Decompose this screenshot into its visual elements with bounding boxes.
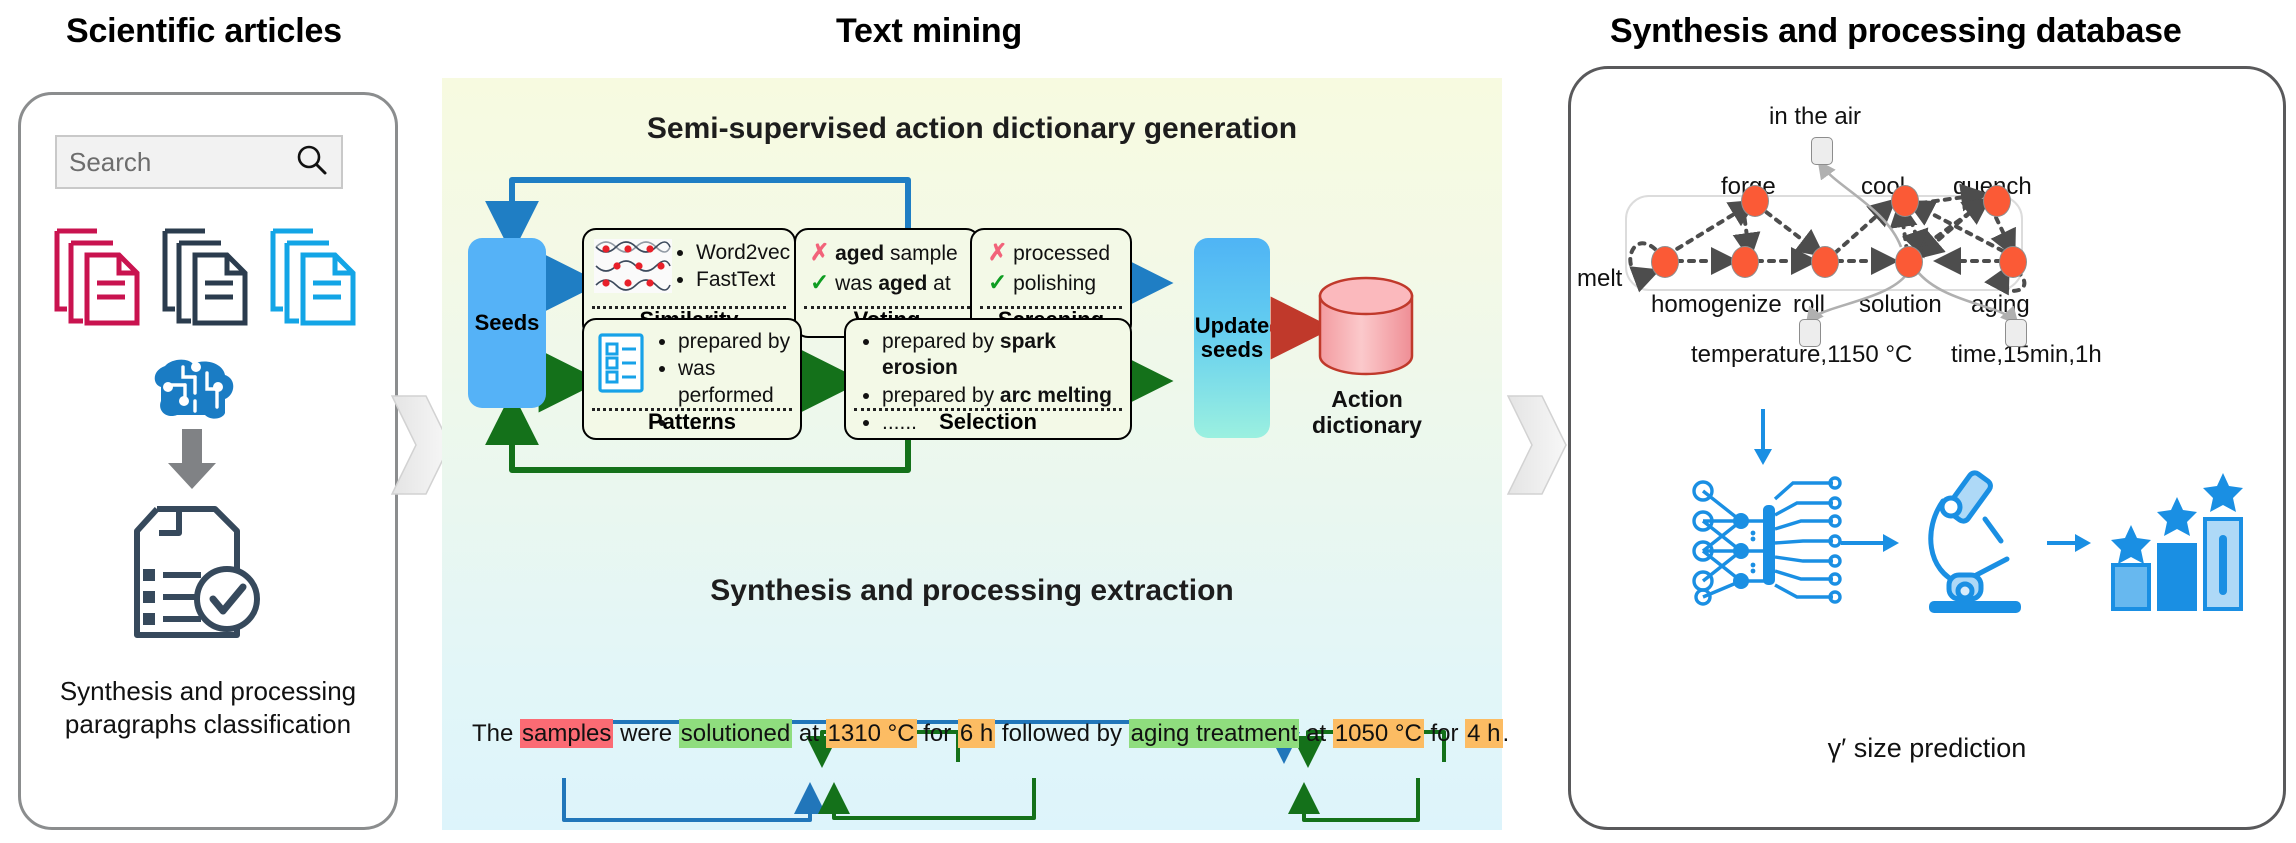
right-panel-title: Synthesis and processing database (1610, 12, 2182, 51)
sentence-token-4: at (792, 720, 825, 747)
down-arrow-icon (164, 429, 220, 496)
selection-item-0: prepared by (882, 330, 1000, 353)
sentence-token-12: for (1424, 720, 1465, 747)
selection-caption: Selection (852, 409, 1124, 435)
search-icon[interactable] (295, 143, 329, 182)
extracted-sentence: The samples were solutioned at 1310 °C f… (472, 720, 1472, 748)
action-dictionary-label: Action dictionary (1286, 386, 1448, 439)
graph-node-homogenize[interactable] (1731, 246, 1759, 278)
mid-panel-title: Text mining (836, 12, 1022, 51)
check-icon: ✓ (988, 269, 1007, 295)
patterns-caption: Patterns (590, 409, 794, 435)
sentence-token-11: 1050 °C (1333, 719, 1424, 748)
x-icon: ✗ (810, 239, 829, 265)
sentence-token-0: The (472, 720, 520, 747)
seeds-block[interactable]: Seeds (468, 238, 546, 408)
graph-edges (1571, 69, 2283, 499)
voting-item-1-bold: aged (878, 272, 927, 295)
screening-item-0: processed (1013, 242, 1110, 265)
update-seeds-label: Update seeds (1195, 314, 1270, 362)
neural-network-icon (1683, 469, 1843, 624)
graph-node-quench[interactable] (1983, 185, 2011, 217)
voting-item-0-bold: aged (835, 242, 884, 265)
search-input[interactable]: Search (55, 135, 343, 189)
documents-stack-dark-icon (159, 225, 255, 334)
similarity-item-0: Word2vec (696, 240, 790, 266)
graph-node-aging[interactable] (1999, 246, 2027, 278)
graph-node-cool[interactable] (1891, 185, 1919, 217)
update-seeds-block[interactable]: Update seeds (1194, 238, 1270, 438)
attr-node-time[interactable] (2005, 319, 2027, 347)
graph-node-roll[interactable] (1811, 246, 1839, 278)
pipeline-arrow-2-icon (2045, 531, 2095, 555)
left-panel-title: Scientific articles (66, 12, 342, 51)
sentence-token-8: followed by (995, 720, 1128, 747)
graph-node-solution[interactable] (1895, 246, 1923, 278)
bar-chart-stars-icon (2105, 469, 2251, 620)
flow-arrows (442, 78, 1502, 830)
patterns-item-1: was performed (678, 356, 800, 409)
voting-items: ✗ aged sample ✓ was aged at (810, 238, 958, 298)
sentence-token-2: were (613, 720, 678, 747)
seeds-label: Seeds (475, 311, 540, 335)
cylinder-database-icon (1314, 274, 1418, 389)
documents-stack-red-icon (51, 225, 147, 334)
action-dictionary-line2: dictionary (1286, 412, 1448, 438)
x-icon: ✗ (988, 239, 1007, 265)
pipeline-arrow-1-icon (1839, 531, 1903, 555)
voting-item-1-pre: was (835, 272, 878, 295)
left-panel-caption: Synthesis and processing paragraphs clas… (21, 675, 395, 740)
similarity-items: Word2vec FastText (676, 240, 790, 295)
microscope-icon (1915, 467, 2035, 624)
ai-brain-icon (143, 357, 239, 430)
sentence-token-14: . (1503, 720, 1510, 747)
sentence-token-1: samples (520, 719, 613, 748)
sentence-token-3: solutioned (679, 719, 792, 748)
sentence-token-6: for (917, 720, 958, 747)
sentence-token-5: 1310 °C (826, 719, 917, 748)
screening-items: ✗ processed ✓ polishing (988, 238, 1110, 298)
left-caption-line2: paragraphs classification (21, 708, 395, 741)
documents-stack-blue-icon (267, 225, 363, 334)
search-placeholder: Search (69, 147, 295, 178)
text-mining-panel: Semi-supervised action dictionary genera… (442, 78, 1502, 830)
chevron-right-icon-2 (1506, 392, 1568, 503)
graph-node-melt[interactable] (1651, 246, 1679, 278)
checklist-icon (596, 332, 646, 399)
selection-item-1: prepared by (882, 384, 1000, 407)
scientific-articles-panel: Search (18, 92, 398, 830)
patterns-item-0: prepared by (678, 329, 800, 355)
synthesis-database-panel: in the air temperature,1150 °C time,15mi… (1568, 66, 2286, 830)
voting-item-0-post: sample (884, 242, 958, 265)
document-check-icon (127, 499, 269, 654)
similarity-item-1: FastText (696, 267, 790, 293)
sentence-token-10: at (1299, 720, 1332, 747)
action-dictionary-line1: Action (1286, 386, 1448, 412)
sentence-token-7: 6 h (958, 719, 995, 748)
attr-node-air[interactable] (1811, 137, 1833, 165)
voting-item-1-post: at (927, 272, 950, 295)
patterns-box[interactable]: prepared by was performed ...... Pattern… (582, 318, 802, 440)
check-icon: ✓ (810, 269, 829, 295)
selection-item-1-bold: arc melting (1000, 384, 1112, 407)
embedding-lattice-icon (594, 239, 672, 298)
graph-node-forge[interactable] (1741, 185, 1769, 217)
sentence-token-13: 4 h (1465, 719, 1502, 748)
gamma-size-prediction-caption: γ′ size prediction (1571, 733, 2283, 764)
screening-item-1: polishing (1013, 272, 1096, 295)
left-caption-line1: Synthesis and processing (21, 675, 395, 708)
attr-node-temperature[interactable] (1799, 319, 1821, 347)
sentence-token-9: aging treatment (1129, 719, 1300, 748)
selection-box[interactable]: prepared by spark erosion prepared by ar… (844, 318, 1132, 440)
